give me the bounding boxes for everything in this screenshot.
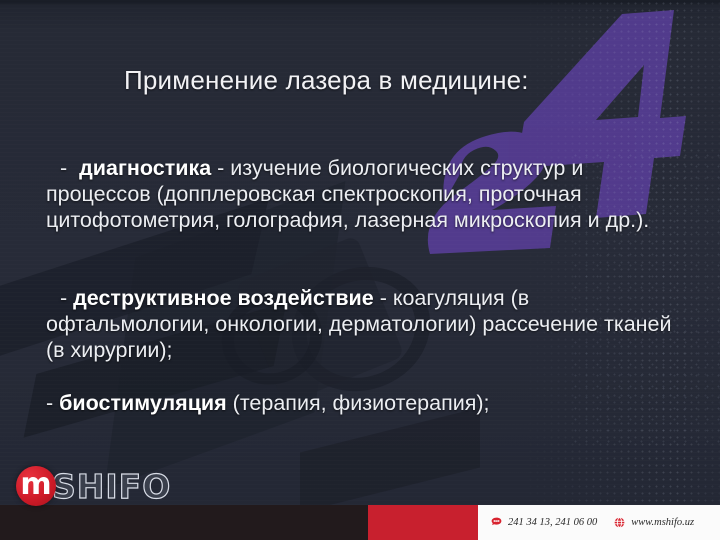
logo-badge-letter: m xyxy=(20,470,51,500)
slide: Применение лазера в медицине: - диагност… xyxy=(0,0,720,540)
footer-red-block xyxy=(368,505,478,540)
footer-website: www.mshifo.uz xyxy=(631,517,694,528)
bullet-text: (терапия, физиотерапия); xyxy=(227,391,490,415)
bullet-term: биостимуляция xyxy=(59,391,227,415)
logo-badge-icon: m xyxy=(16,466,56,506)
top-edge-strip xyxy=(0,0,720,5)
bullet-marker: - xyxy=(60,156,67,180)
globe-icon xyxy=(613,516,626,529)
footer-phone: 241 34 13, 241 06 00 xyxy=(508,517,597,528)
footer-bar: 241 34 13, 241 06 00 www.mshifo.uz xyxy=(0,505,720,540)
telephone-icon xyxy=(490,516,503,529)
bullet-term: деструктивное воздействие xyxy=(73,286,374,310)
bullet-marker: - xyxy=(60,286,67,310)
bullet-marker: - xyxy=(46,391,53,415)
footer-contact-row: 241 34 13, 241 06 00 www.mshifo.uz xyxy=(490,516,694,529)
footer-contact-panel: 241 34 13, 241 06 00 www.mshifo.uz xyxy=(478,505,720,540)
bullet-biostimulyatsiya: - биостимуляция (терапия, физиотерапия); xyxy=(46,390,686,416)
bullet-diagnostika: - диагностика - изучение биологических с… xyxy=(46,155,686,233)
bullet-destruktivnoe-vozdeystvie: - деструктивное воздействие - коагуляция… xyxy=(46,285,686,363)
bullet-term: диагностика xyxy=(79,156,211,180)
logo-wordmark: SHIFO xyxy=(52,470,171,503)
slide-title: Применение лазера в медицине: xyxy=(124,65,529,96)
mshifo-logo: m SHIFO xyxy=(16,464,171,508)
